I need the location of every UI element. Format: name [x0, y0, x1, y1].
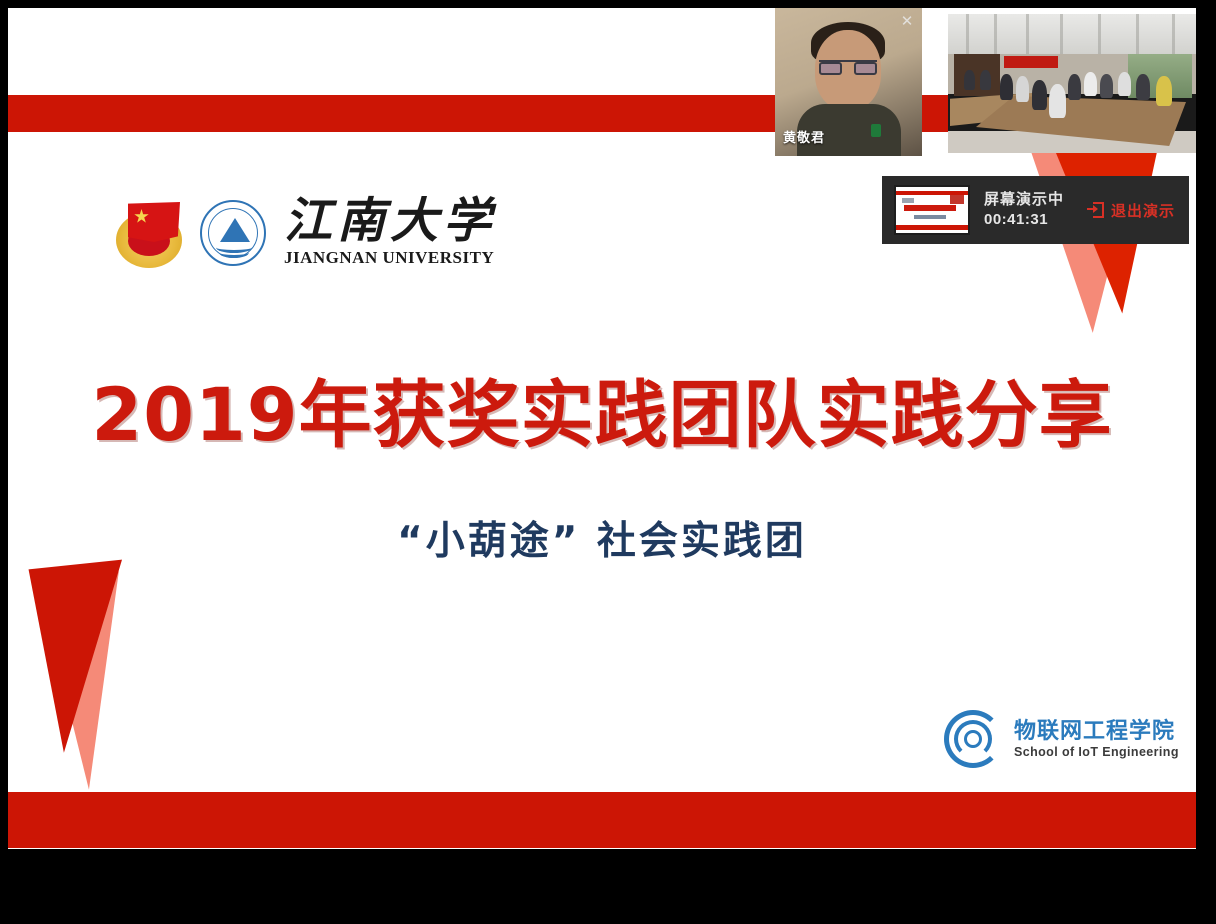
participant-name-label: 黄敬君 — [783, 127, 825, 146]
screen-share-control-bar[interactable]: 屏幕演示中 00:41:31 退出演示 — [882, 176, 1189, 244]
exit-presentation-icon — [1087, 202, 1104, 218]
school-name-en: School of IoT Engineering — [1014, 745, 1179, 759]
exit-presentation-button[interactable]: 退出演示 — [1087, 200, 1175, 221]
jiangnan-university-seal-icon — [200, 200, 266, 266]
slide-title: 2019年获奖实践团队实践分享 — [8, 356, 1196, 462]
video-tile-self[interactable]: ✕ 黄敬君 — [775, 8, 922, 156]
decorative-triangle-bottom-left-dark — [29, 560, 142, 755]
school-name-cn: 物联网工程学院 — [1014, 719, 1175, 743]
university-name-block: 江南大学 JIANGNAN UNIVERSITY — [284, 198, 496, 269]
share-status-text: 屏幕演示中 — [984, 190, 1064, 210]
room-attendees — [948, 14, 1196, 153]
video-tile-conference-room[interactable] — [948, 14, 1196, 153]
concentric-rings-icon — [944, 710, 1002, 768]
share-timer: 00:41:31 — [984, 210, 1064, 230]
slide-subtitle: “小葫途” 社会实践团 — [8, 510, 1196, 566]
avatar-glasses — [819, 60, 877, 75]
communist-youth-league-emblem-icon — [112, 196, 186, 270]
university-name-cn: 江南大学 — [284, 198, 496, 247]
shared-content-thumbnail[interactable] — [894, 185, 970, 235]
avatar-badge — [871, 124, 881, 137]
slide-bottom-red-band — [8, 792, 1196, 848]
share-status-block: 屏幕演示中 00:41:31 — [984, 190, 1064, 231]
university-name-en: JIANGNAN UNIVERSITY — [284, 248, 494, 268]
screen-share-viewport: 江南大学 JIANGNAN UNIVERSITY 2019年获奖实践团队实践分享… — [0, 0, 1216, 924]
exit-presentation-label: 退出演示 — [1111, 200, 1175, 221]
slide-header-logos: 江南大学 JIANGNAN UNIVERSITY — [112, 196, 496, 270]
close-icon[interactable]: ✕ — [899, 14, 915, 30]
school-of-iot-logo: 物联网工程学院 School of IoT Engineering — [944, 710, 1179, 768]
